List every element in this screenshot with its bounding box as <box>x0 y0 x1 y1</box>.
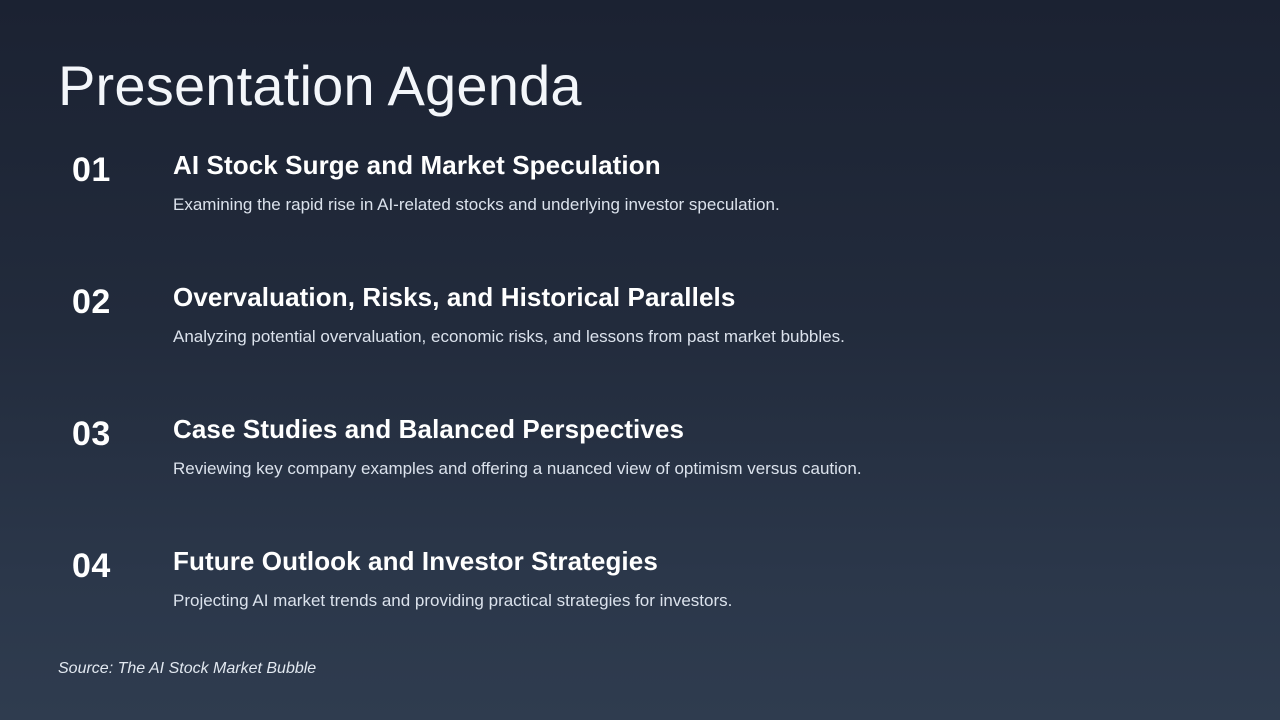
agenda-item-description: Projecting AI market trends and providin… <box>173 589 1240 613</box>
agenda-item-heading: Case Studies and Balanced Perspectives <box>173 412 1240 446</box>
presentation-slide: Presentation Agenda 01 AI Stock Surge an… <box>0 0 1280 720</box>
agenda-item-number: 03 <box>72 412 162 456</box>
agenda-item-heading: Future Outlook and Investor Strategies <box>173 544 1240 578</box>
page-title: Presentation Agenda <box>58 57 582 116</box>
agenda-item-body: AI Stock Surge and Market Speculation Ex… <box>173 148 1240 217</box>
agenda-item-body: Case Studies and Balanced Perspectives R… <box>173 412 1240 481</box>
agenda-list: 01 AI Stock Surge and Market Speculation… <box>0 148 1280 676</box>
agenda-item-description: Examining the rapid rise in AI-related s… <box>173 193 1240 217</box>
agenda-item-number: 02 <box>72 280 162 324</box>
agenda-item-number: 04 <box>72 544 162 588</box>
agenda-item: 01 AI Stock Surge and Market Speculation… <box>0 148 1280 280</box>
agenda-item: 04 Future Outlook and Investor Strategie… <box>0 544 1280 676</box>
agenda-item-description: Analyzing potential overvaluation, econo… <box>173 325 1240 349</box>
agenda-item-description: Reviewing key company examples and offer… <box>173 457 1240 481</box>
agenda-item: 03 Case Studies and Balanced Perspective… <box>0 412 1280 544</box>
agenda-item-body: Future Outlook and Investor Strategies P… <box>173 544 1240 613</box>
agenda-item: 02 Overvaluation, Risks, and Historical … <box>0 280 1280 412</box>
agenda-item-heading: AI Stock Surge and Market Speculation <box>173 148 1240 182</box>
agenda-item-heading: Overvaluation, Risks, and Historical Par… <box>173 280 1240 314</box>
source-note: Source: The AI Stock Market Bubble <box>58 658 316 680</box>
agenda-item-body: Overvaluation, Risks, and Historical Par… <box>173 280 1240 349</box>
agenda-item-number: 01 <box>72 148 162 192</box>
